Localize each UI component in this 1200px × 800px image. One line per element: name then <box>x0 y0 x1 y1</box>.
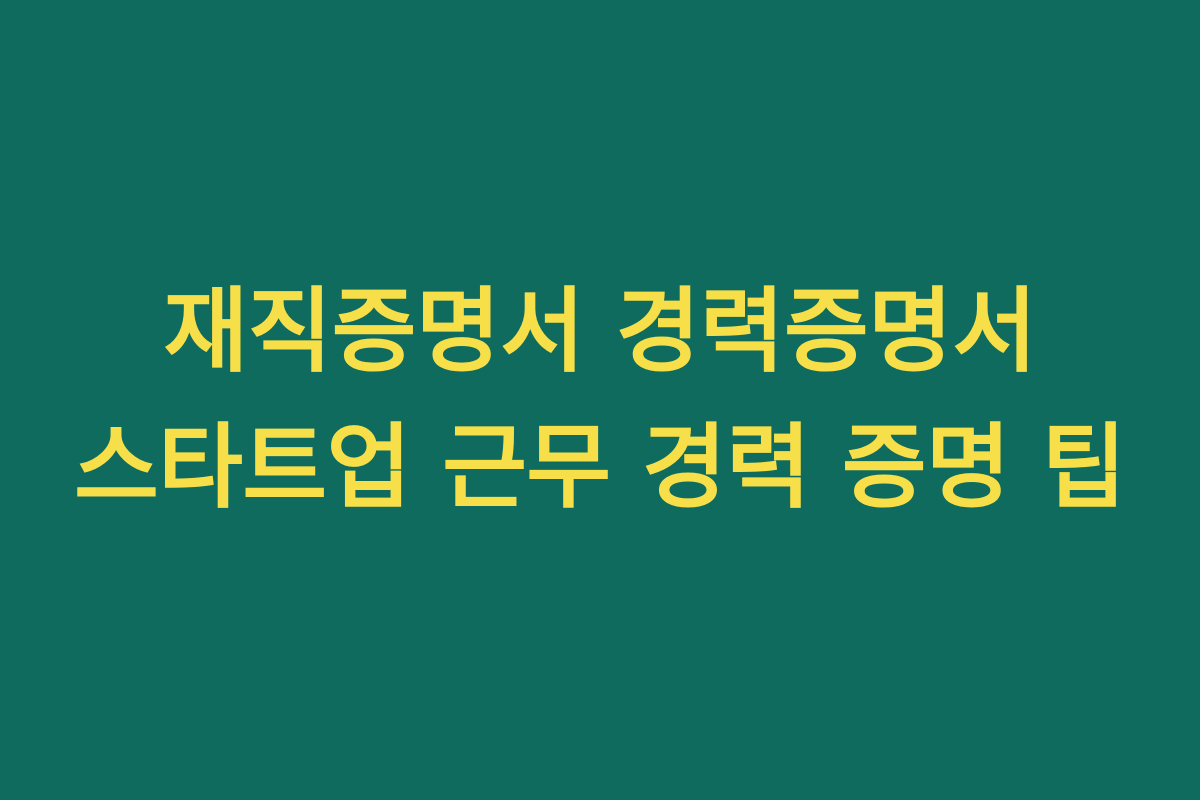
page-title: 재직증명서 경력증명서 스타트업 근무 경력 증명 팁 <box>70 264 1130 536</box>
headline-block: 재직증명서 경력증명서 스타트업 근무 경력 증명 팁 <box>70 264 1130 536</box>
title-banner: 재직증명서 경력증명서 스타트업 근무 경력 증명 팁 <box>0 0 1200 800</box>
